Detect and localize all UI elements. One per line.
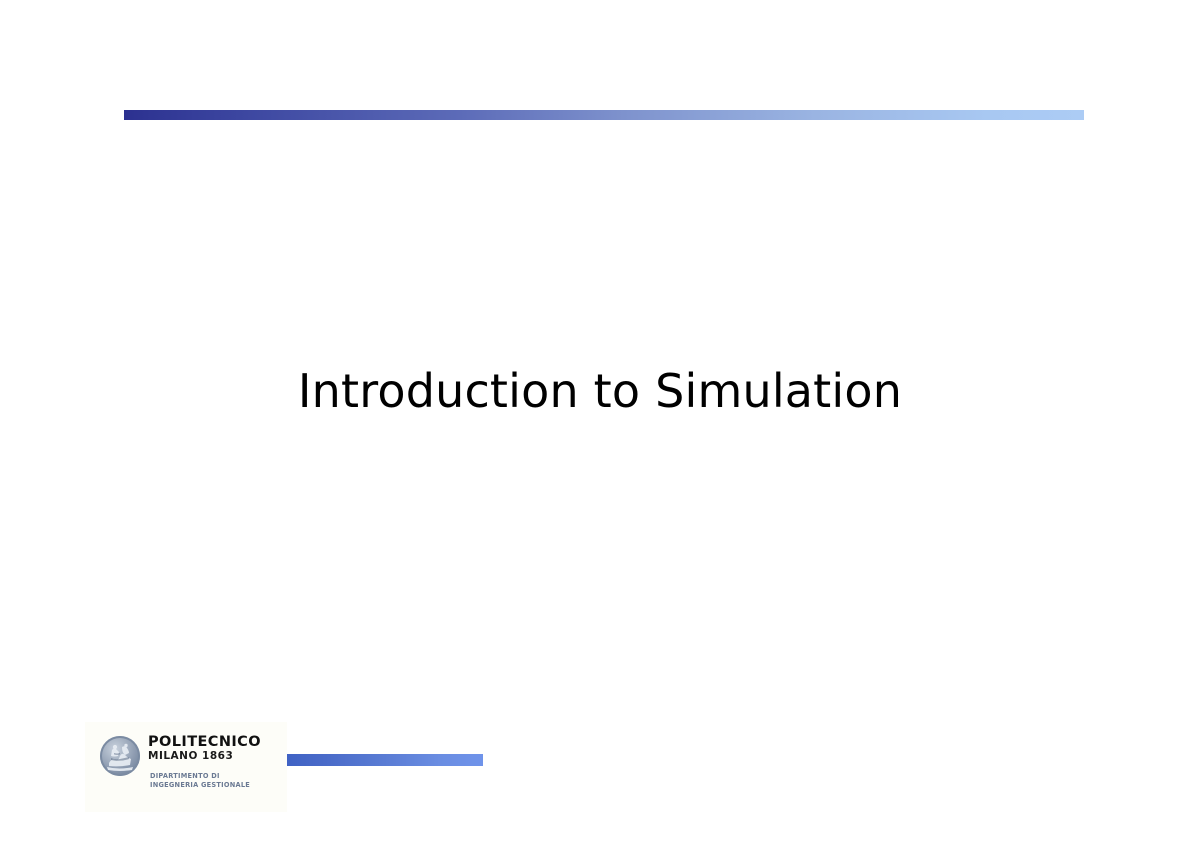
bottom-accent-bar <box>286 754 483 766</box>
university-city-year: MILANO 1863 <box>148 750 280 763</box>
top-gradient-rule <box>124 110 1084 120</box>
title-block: Introduction to Simulation <box>0 331 1200 451</box>
logo-text-group: POLITECNICO MILANO 1863 DIPARTIMENTO DI … <box>148 734 280 790</box>
page-title: Introduction to Simulation <box>298 362 902 420</box>
university-name: POLITECNICO <box>148 734 280 750</box>
presentation-slide: Introduction to Simulation <box>0 0 1200 849</box>
department-line-1: DIPARTIMENTO DI <box>150 772 280 781</box>
institution-logo: POLITECNICO MILANO 1863 DIPARTIMENTO DI … <box>85 722 287 812</box>
department-name: DIPARTIMENTO DI INGEGNERIA GESTIONALE <box>150 772 280 790</box>
department-line-2: INGEGNERIA GESTIONALE <box>150 781 280 790</box>
politecnico-crest-icon <box>100 736 140 776</box>
logo-lockup: POLITECNICO MILANO 1863 DIPARTIMENTO DI … <box>100 734 280 802</box>
